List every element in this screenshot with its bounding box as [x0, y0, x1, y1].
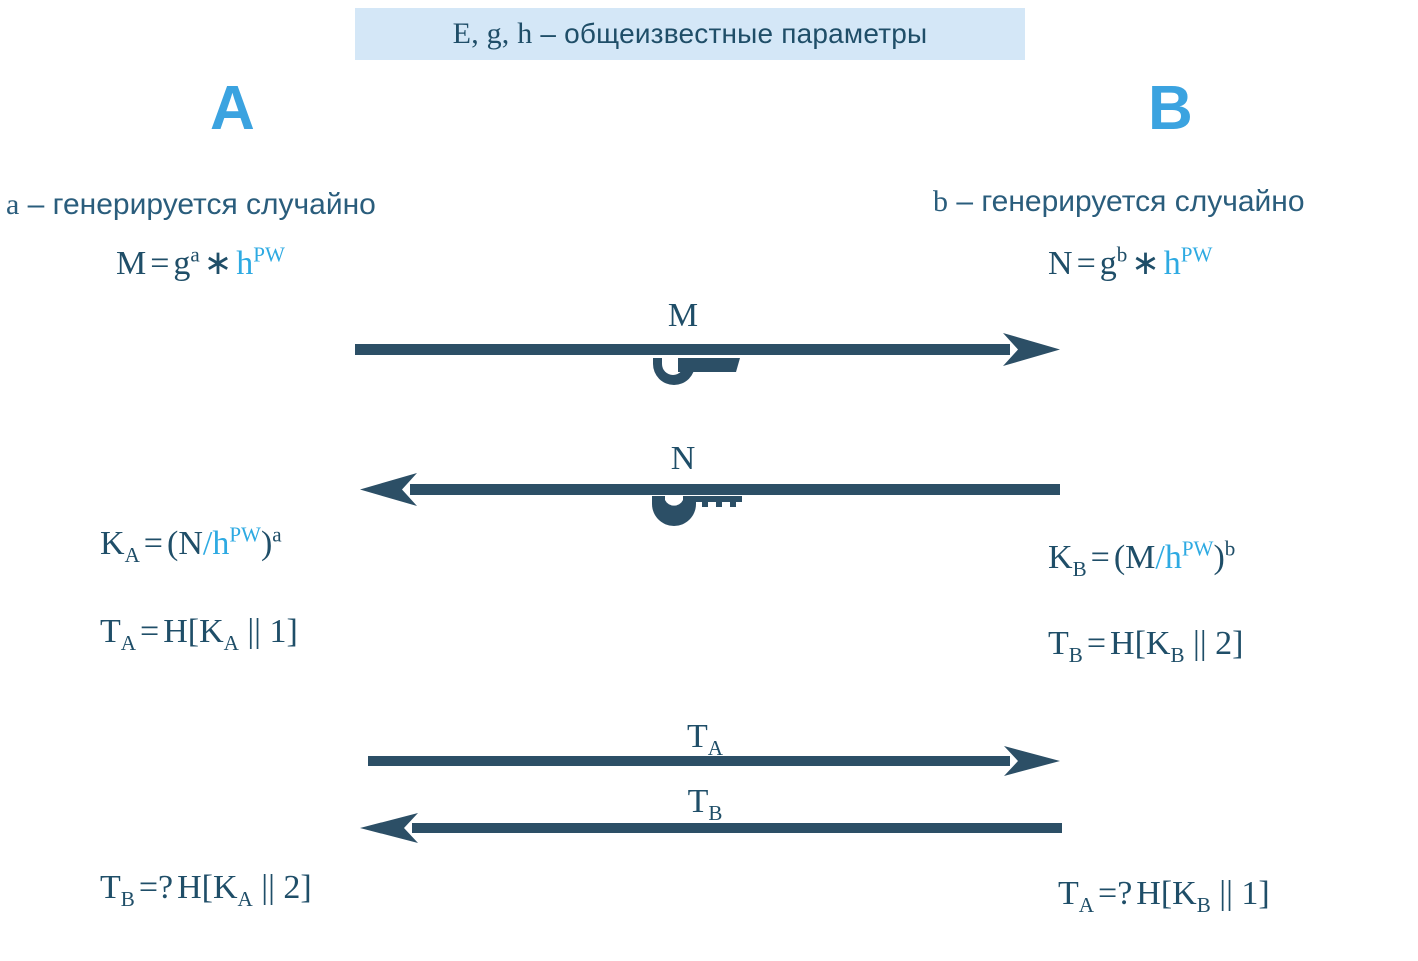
formula-tag-b-lhs-sub: B — [1069, 643, 1083, 667]
caption-random-a: a – генерируется случайно — [6, 188, 376, 222]
message-arrow-tb — [360, 812, 1062, 846]
formula-key-a-lhs: K — [100, 525, 125, 562]
formula-tag-b-hash: H[K — [1110, 625, 1170, 662]
formula-verify-a-lhs-sub: A — [1079, 893, 1094, 917]
formula-verify-a-hash: H[K — [1136, 875, 1196, 912]
formula-m-lhs: M — [116, 245, 146, 282]
formula-m-operator: ∗ — [200, 245, 237, 282]
formula-verify-a-lhs: T — [1058, 875, 1079, 912]
formula-n-hexponent: PW — [1181, 243, 1213, 267]
formula-verify-a-equals: =? — [1094, 875, 1136, 912]
public-parameters-description: – общеизвестные параметры — [532, 18, 927, 49]
formula-key-a-close-paren: ) — [261, 525, 272, 562]
public-parameters-banner: E, g, h – общеизвестные параметры — [355, 8, 1025, 60]
formula-key-b-hbase: h — [1165, 539, 1182, 576]
caption-random-a-var: a — [6, 188, 19, 221]
formula-verify-b-lhs-sub: B — [121, 887, 135, 911]
formula-tag-b: TB=H[KB || 2] — [1048, 626, 1243, 662]
formula-key-a-numerator: N — [178, 525, 203, 562]
key-plain-icon — [648, 358, 743, 388]
formula-key-a-open-paren: ( — [167, 525, 178, 562]
party-label-b: B — [1148, 78, 1193, 140]
formula-tag-a: TA=H[KA || 1] — [100, 614, 298, 650]
formula-tag-a-lhs: T — [100, 613, 121, 650]
formula-verify-b-lhs: T — [100, 869, 121, 906]
formula-n-equals: = — [1073, 245, 1100, 282]
caption-random-b-var: b — [933, 185, 948, 218]
formula-n-base: g — [1100, 245, 1117, 282]
public-parameters-symbols: E, g, h — [453, 17, 533, 50]
public-parameters-text: E, g, h – общеизвестные параметры — [453, 17, 928, 51]
formula-tag-a-hash-sub: A — [224, 631, 239, 655]
formula-m-base: g — [173, 245, 190, 282]
formula-key-b-hexponent: PW — [1182, 537, 1214, 561]
formula-tag-a-lhs-sub: A — [121, 631, 136, 655]
formula-m-exponent: a — [190, 243, 199, 267]
formula-key-a-hbase: h — [212, 525, 229, 562]
formula-n-hbase: h — [1164, 245, 1181, 282]
formula-key-b-open-paren: ( — [1114, 539, 1125, 576]
formula-key-b-equals: = — [1087, 539, 1114, 576]
formula-verify-a: TA=?H[KB || 1] — [1058, 876, 1270, 912]
formula-verify-b: TB=?H[KA || 2] — [100, 870, 312, 906]
key-toothed-icon — [650, 496, 750, 528]
formula-verify-b-hash-sub: A — [238, 887, 253, 911]
formula-verify-a-tail: || 1] — [1211, 875, 1270, 912]
caption-random-a-text: – генерируется случайно — [19, 188, 376, 221]
formula-key-b-slash: / — [1155, 539, 1164, 576]
formula-tag-b-lhs: T — [1048, 625, 1069, 662]
formula-verify-b-equals: =? — [135, 869, 177, 906]
formula-key-b-close-paren: ) — [1213, 539, 1224, 576]
formula-key-a-slash: / — [203, 525, 212, 562]
formula-verify-b-tail: || 2] — [253, 869, 312, 906]
formula-tag-a-equals: = — [136, 613, 163, 650]
formula-key-a-lhs-sub: A — [125, 543, 140, 567]
formula-key-b: KB=(M/hPW)b — [1048, 540, 1235, 576]
formula-m-equals: = — [146, 245, 173, 282]
formula-verify-a-hash-sub: B — [1197, 893, 1211, 917]
formula-n-lhs: N — [1048, 245, 1073, 282]
formula-n-operator: ∗ — [1127, 245, 1164, 282]
message-arrow-ta — [368, 745, 1060, 779]
formula-key-a-equals: = — [140, 525, 167, 562]
formula-key-b-lhs-sub: B — [1073, 557, 1087, 581]
formula-tag-b-equals: = — [1083, 625, 1110, 662]
formula-key-b-lhs: K — [1048, 539, 1073, 576]
caption-random-b-text: – генерируется случайно — [948, 185, 1305, 218]
formula-tag-a-tail: || 1] — [239, 613, 298, 650]
formula-n-commitment: N=gb∗hPW — [1048, 246, 1212, 282]
formula-tag-b-tail: || 2] — [1185, 625, 1244, 662]
formula-key-a: KA=(N/hPW)a — [100, 526, 282, 562]
formula-key-b-numerator: M — [1125, 539, 1155, 576]
party-label-a: A — [210, 78, 255, 140]
formula-tag-b-hash-sub: B — [1170, 643, 1184, 667]
formula-n-exponent: b — [1117, 243, 1128, 267]
formula-m-hexponent: PW — [253, 243, 285, 267]
formula-key-a-outer-exponent: a — [272, 523, 281, 547]
caption-random-b: b – генерируется случайно — [933, 185, 1305, 219]
message-label-m-text: M — [668, 297, 698, 334]
formula-m-hbase: h — [236, 245, 253, 282]
formula-key-a-hexponent: PW — [229, 523, 261, 547]
formula-verify-b-hash: H[K — [177, 869, 237, 906]
protocol-diagram: E, g, h – общеизвестные параметры A B a … — [0, 0, 1418, 961]
formula-tag-a-hash: H[K — [163, 613, 223, 650]
formula-m-commitment: M=ga∗hPW — [116, 246, 285, 282]
formula-key-b-outer-exponent: b — [1225, 537, 1236, 561]
